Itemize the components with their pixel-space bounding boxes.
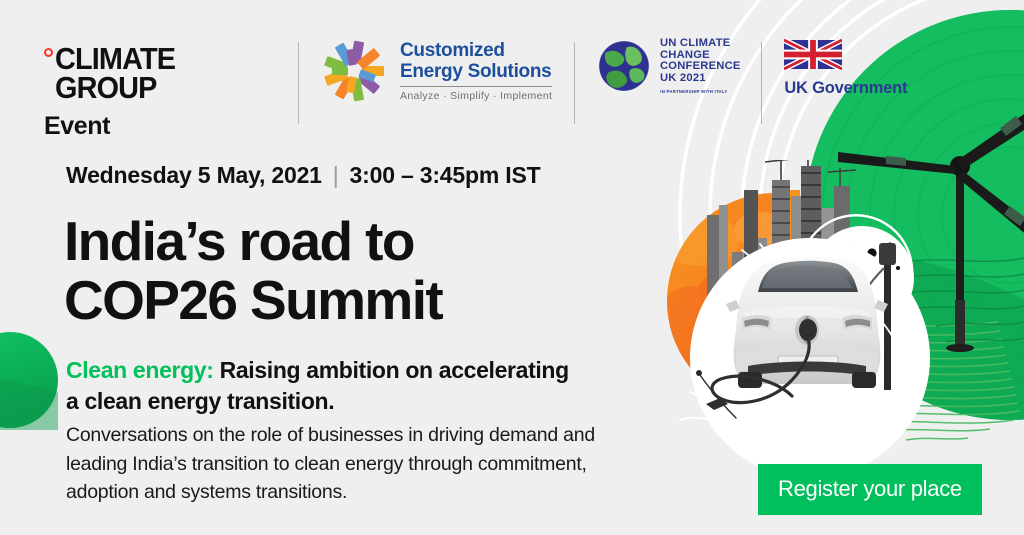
green-circle-small-left — [0, 332, 58, 430]
session-description: Conversations on the role of businesses … — [66, 421, 611, 507]
logo-header: CLIMATE GROUP Event — [44, 38, 907, 138]
cable-end — [706, 398, 728, 410]
climate-group-logo: CLIMATE GROUP Event — [44, 38, 276, 141]
uk-government-logo: UK Government — [784, 38, 907, 98]
speckle-circle — [810, 226, 914, 330]
city-skyline-photo — [707, 142, 862, 406]
white-circle-foreground — [690, 238, 930, 478]
white-thin-arc — [800, 215, 912, 300]
ces-rule — [400, 86, 552, 87]
white-squiggles — [680, 244, 892, 432]
customized-energy-solutions-logo: Customized Energy Solutions Analyze · Si… — [321, 38, 552, 104]
un-climate-conference-logo: UN CLIMATE CHANGE CONFERENCE UK 2021 IN … — [597, 38, 739, 94]
logo-divider-2 — [574, 42, 575, 124]
charging-cable — [712, 332, 809, 403]
ces-line2: Energy Solutions — [400, 61, 552, 82]
globe-icon — [597, 39, 651, 93]
poster-canvas: CLIMATE GROUP Event — [0, 0, 1024, 535]
page-title: India’s road to COP26 Summit — [64, 212, 442, 330]
register-button[interactable]: Register your place — [758, 464, 982, 515]
charging-plug — [799, 319, 817, 341]
ces-pinwheel-icon — [321, 38, 387, 104]
ces-line1: Customized — [400, 40, 552, 61]
logo-divider-3 — [761, 42, 762, 124]
electric-car-photo — [726, 257, 888, 389]
climate-group-name: CLIMATE GROUP — [55, 44, 261, 103]
session-subheading: Clean energy: Raising ambition on accele… — [66, 355, 586, 418]
orange-watercolor-semicircle — [656, 190, 820, 409]
event-date: Wednesday 5 May, 2021 — [66, 162, 322, 189]
ces-tagline: Analyze · Simplify · Implement — [400, 90, 552, 102]
event-time: 3:00 – 3:45pm IST — [350, 162, 541, 189]
dark-squiggles — [696, 370, 736, 418]
un-line4: UK 2021 — [660, 73, 741, 85]
logo-divider-1 — [298, 42, 299, 124]
subheading-accent: Clean energy: — [66, 357, 214, 383]
green-wave-lines-dark — [896, 258, 1024, 342]
uk-government-label: UK Government — [784, 79, 907, 98]
climate-group-subtitle: Event — [44, 112, 276, 141]
un-partnership-note: IN PARTNERSHIP WITH ITALY — [660, 89, 739, 94]
headline-line-1: India’s road to — [64, 210, 414, 272]
datetime-separator: | — [333, 162, 339, 189]
event-datetime: Wednesday 5 May, 2021 | 3:00 – 3:45pm IS… — [66, 162, 540, 189]
union-jack-icon — [784, 38, 842, 71]
headline-line-2: COP26 Summit — [64, 269, 442, 331]
charging-station — [852, 243, 896, 390]
degree-dot-icon — [44, 48, 53, 57]
green-wave-lines — [820, 322, 1020, 440]
